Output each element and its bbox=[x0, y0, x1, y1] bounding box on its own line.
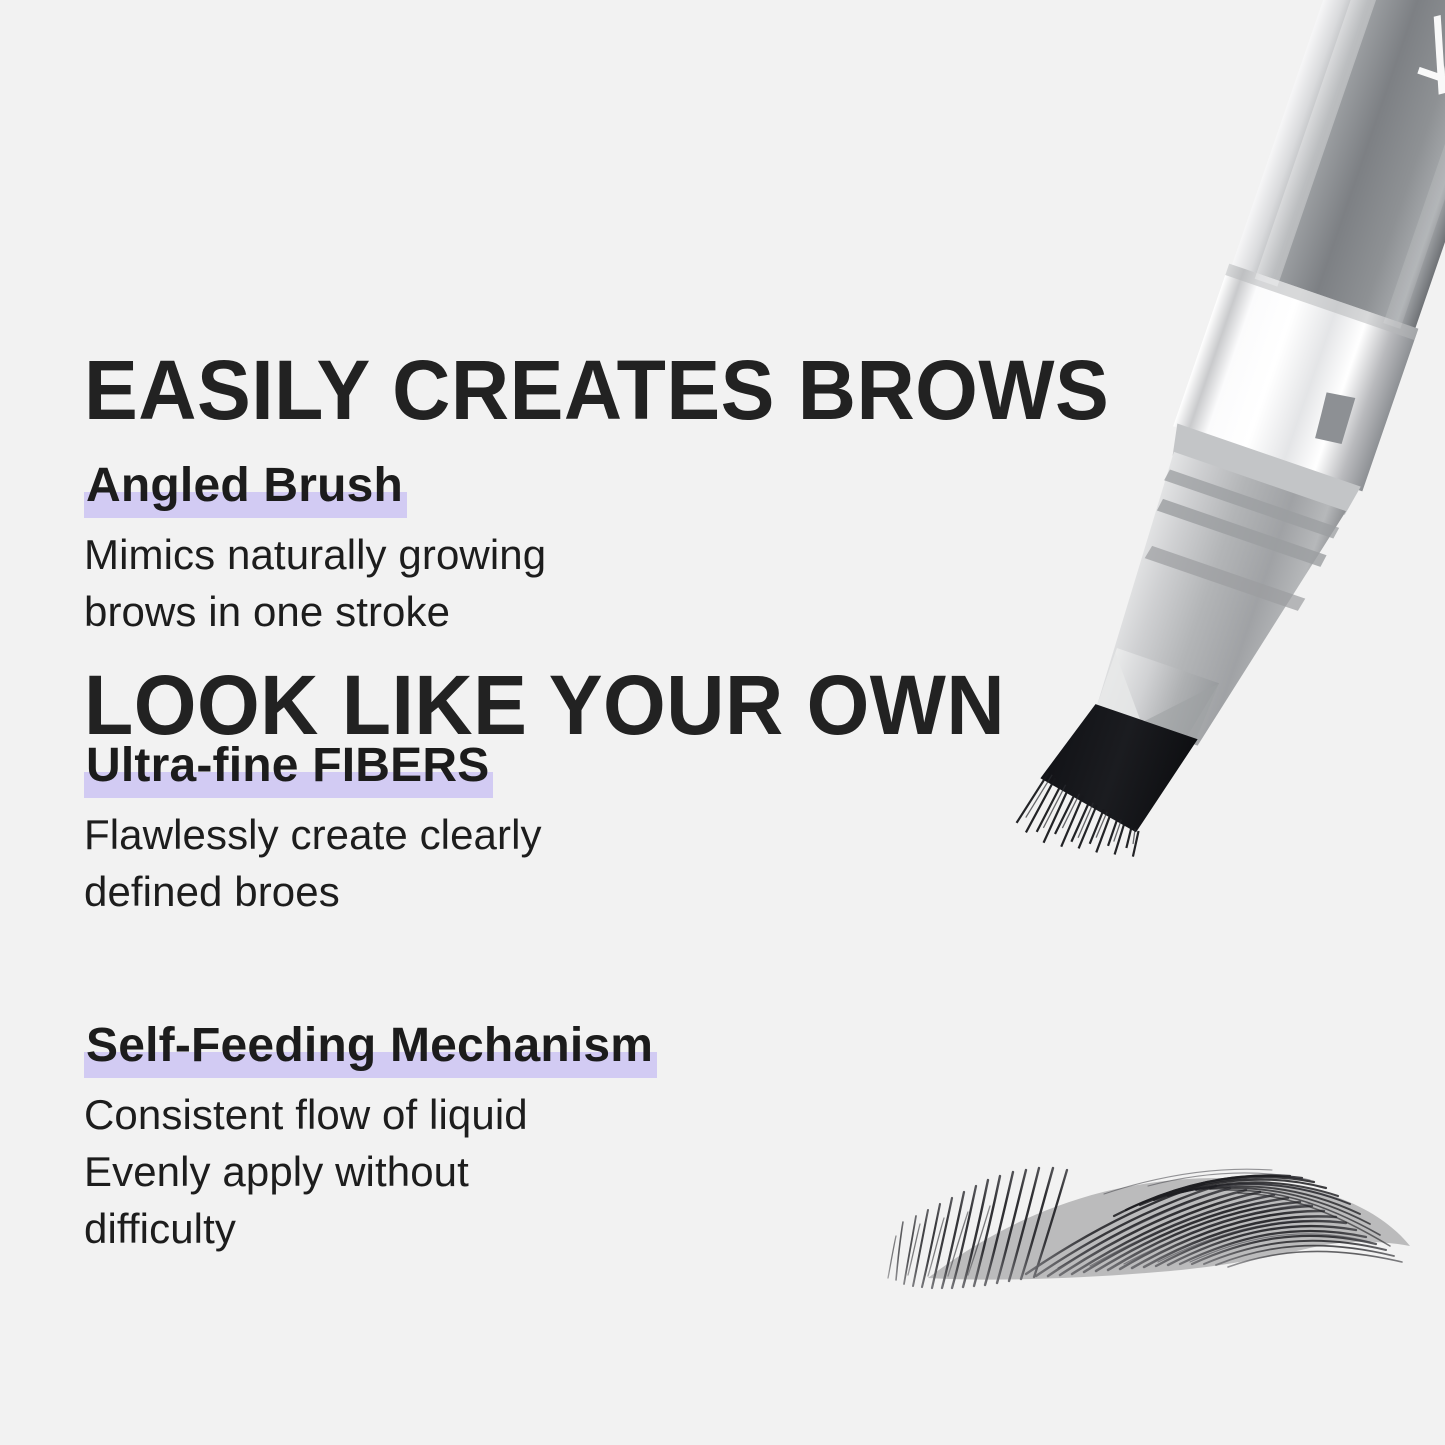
brow-body-mass bbox=[928, 1178, 1410, 1280]
brow-head-hairs bbox=[888, 1168, 1067, 1288]
feature-heading: Self-Feeding Mechanism bbox=[84, 1018, 657, 1074]
pen-silver-band bbox=[1173, 264, 1418, 492]
feature-heading-label: Self-Feeding Mechanism bbox=[86, 1019, 653, 1072]
pen-ring-groove bbox=[1157, 498, 1327, 567]
pen-brand-mark bbox=[1410, 13, 1445, 117]
pen-barrel bbox=[1230, 0, 1445, 333]
feature-heading: Angled Brush bbox=[84, 458, 407, 514]
feature-block-ultra-fine-fibers: Ultra-fine FIBERS Flawlessly create clea… bbox=[84, 738, 542, 920]
brow-crown-hairs bbox=[1114, 1175, 1390, 1246]
pen-band-mark bbox=[1311, 389, 1357, 447]
brow-stray-hairs bbox=[1058, 1169, 1370, 1268]
product-feature-graphic: EASILY CREATES BROWS LOOK LIKE YOUR OWN … bbox=[0, 0, 1445, 1445]
feature-body-text: Mimics naturally growing brows in one st… bbox=[84, 526, 546, 640]
feature-block-self-feeding-mechanism: Self-Feeding Mechanism Consistent flow o… bbox=[84, 1018, 657, 1257]
headline-line-1: EASILY CREATES BROWS bbox=[84, 338, 1159, 443]
feature-block-angled-brush: Angled Brush Mimics naturally growing br… bbox=[84, 458, 546, 640]
brow-arch-hairs bbox=[1026, 1184, 1402, 1276]
feature-heading-label: Angled Brush bbox=[86, 459, 403, 512]
pen-ring-groove bbox=[1145, 545, 1306, 612]
pen-ring-groove bbox=[1164, 469, 1339, 539]
feature-body-text: Consistent flow of liquid Evenly apply w… bbox=[84, 1086, 657, 1257]
feature-heading-label: Ultra-fine FIBERS bbox=[86, 739, 489, 792]
drawn-eyebrow-image bbox=[858, 1090, 1428, 1350]
feature-body-text: Flawlessly create clearly defined broes bbox=[84, 806, 542, 920]
feature-heading: Ultra-fine FIBERS bbox=[84, 738, 493, 794]
